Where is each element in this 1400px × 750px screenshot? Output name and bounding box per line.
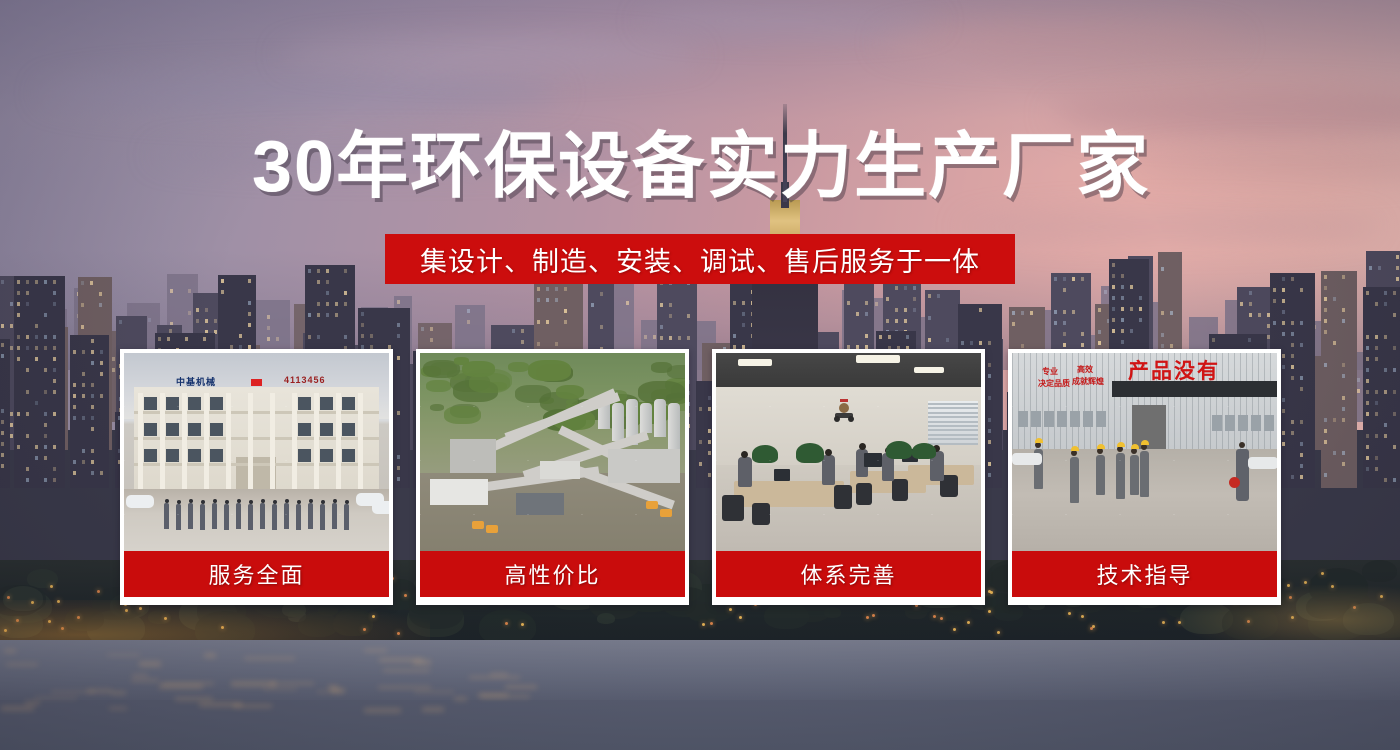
feature-card-row: 中基机械 4113456 服务全面 高性价比 (120, 349, 1280, 605)
office-worker (822, 455, 835, 485)
hard-hat-icon (1035, 438, 1043, 443)
building-window (144, 449, 157, 462)
hard-hat-icon (1071, 446, 1079, 451)
card-photo-factory-yard: 产品没有 专业 决定品质 高效 成就辉煌 (1012, 353, 1277, 551)
factory-window (1018, 411, 1028, 427)
supervisor (1236, 449, 1249, 501)
person-head (333, 499, 337, 503)
factory-worker (1130, 455, 1139, 495)
wall-rib (1060, 353, 1061, 449)
field-patch (515, 385, 551, 403)
building-column (292, 393, 297, 489)
building-window (188, 449, 201, 462)
staff-person (272, 504, 277, 530)
card-caption-label: 高性价比 (504, 558, 600, 590)
person-head (859, 443, 866, 450)
plant-building (516, 493, 564, 515)
plant-building (430, 479, 488, 505)
building-column (248, 393, 253, 489)
person-head (309, 499, 313, 503)
field-patch (667, 365, 685, 380)
building-window (342, 397, 355, 410)
wall-rib (1072, 353, 1073, 449)
building-window (320, 449, 333, 462)
wall-rib (1270, 353, 1271, 449)
person-head (213, 499, 217, 503)
computer-monitor (864, 453, 882, 467)
wall-slogan-text: 专业 (1042, 367, 1058, 376)
building-window (188, 423, 201, 436)
building-column (226, 393, 231, 489)
building-window (298, 449, 311, 462)
promo-banner: 30年环保设备实力生产厂家 集设计、制造、安装、调试、售后服务于一体 中基机械 … (0, 0, 1400, 750)
building-floor-line (134, 463, 379, 466)
staff-person (188, 503, 193, 529)
building-window (166, 397, 179, 410)
building-column (270, 393, 275, 489)
wall-rib (1252, 353, 1253, 449)
window-blind-slat (928, 438, 978, 440)
office-plant (752, 445, 778, 463)
factory-window (1096, 411, 1106, 427)
factory-window (1264, 415, 1274, 431)
factory-window (1238, 415, 1248, 431)
card-caption: 高性价比 (420, 551, 685, 597)
building-window (188, 397, 201, 410)
wall-rib (1096, 353, 1097, 449)
silo (612, 403, 624, 441)
wall-rib (1234, 353, 1235, 449)
card-caption-label: 体系完善 (800, 558, 896, 590)
building-column (358, 393, 363, 489)
silo (654, 399, 666, 437)
subtitle-text: 集设计、制造、安装、调试、售后服务于一体 (420, 240, 980, 279)
staff-person (224, 504, 229, 530)
excavator (486, 525, 498, 533)
building-column (336, 393, 341, 489)
person-head (249, 500, 253, 504)
card-caption: 服务全面 (124, 551, 389, 597)
wall-rib (1228, 353, 1229, 449)
plant-building (608, 449, 680, 483)
staff-person (176, 504, 181, 530)
building-window (144, 423, 157, 436)
wall-slogan-text: 成就辉煌 (1072, 377, 1104, 386)
person-head (297, 500, 301, 504)
person-head (237, 499, 241, 503)
silo (640, 403, 652, 433)
building-column (314, 393, 319, 489)
staff-person (236, 503, 241, 529)
staff-person (212, 503, 217, 529)
building-column (160, 393, 165, 489)
wall-rib (1108, 353, 1109, 449)
card-photo-headquarters: 中基机械 4113456 (124, 353, 389, 551)
hard-hat-icon (1117, 442, 1125, 447)
computer-monitor (774, 469, 790, 481)
office-chair (892, 479, 908, 501)
factory-worker (1140, 451, 1149, 497)
office-plant (912, 443, 936, 459)
card-photo-plant-aerial (420, 353, 685, 551)
card-caption-label: 技术指导 (1096, 558, 1192, 590)
person-head (825, 449, 832, 456)
feature-card[interactable]: 高性价比 (416, 349, 689, 605)
wall-rib (1066, 353, 1067, 449)
ceiling-light (856, 355, 900, 363)
building-floor-line (134, 411, 379, 414)
person-head (177, 500, 181, 504)
office-plant (796, 443, 824, 463)
wall-rib (1264, 353, 1265, 449)
factory-window (1057, 411, 1067, 427)
feature-card[interactable]: 体系完善 (712, 349, 985, 605)
factory-worker (1116, 453, 1125, 499)
wall-rib (1114, 353, 1115, 449)
person-head (165, 499, 169, 503)
window-blind-slat (928, 407, 978, 409)
staff-person (320, 504, 325, 530)
field-patch (444, 406, 481, 424)
parked-car (1012, 453, 1042, 465)
person-head (285, 499, 289, 503)
ceiling-light (914, 367, 944, 373)
excavator (646, 501, 658, 509)
building-column (204, 393, 209, 489)
building-column (182, 393, 187, 489)
building-window (210, 449, 223, 462)
building-window (144, 397, 157, 410)
wall-rib (1102, 353, 1103, 449)
wall-decal-svg (828, 397, 860, 423)
staff-person (296, 504, 301, 530)
office-chair (752, 503, 770, 525)
factory-worker (1096, 455, 1105, 495)
window-blind-slat (928, 421, 978, 423)
building-window (298, 397, 311, 410)
building-floor-line (134, 437, 379, 440)
building-window (320, 397, 333, 410)
building-window (342, 423, 355, 436)
office-chair (856, 483, 872, 505)
window-blind-slat (928, 412, 978, 414)
wall-decal-icon (828, 397, 860, 423)
wall-rib (1018, 353, 1019, 449)
staff-person (164, 503, 169, 529)
factory-window (1212, 415, 1222, 431)
wall-rib (1222, 353, 1223, 449)
building-window (210, 397, 223, 410)
wall-rib (1120, 353, 1121, 449)
staff-person (260, 503, 265, 529)
factory-window (1225, 415, 1235, 431)
excavator (472, 521, 484, 529)
window-blind-slat (928, 403, 978, 405)
wall-slogan-text: 高效 (1077, 365, 1093, 374)
field-patch (528, 360, 571, 381)
wall-rib (1126, 353, 1127, 449)
factory-window (1044, 411, 1054, 427)
parked-car (372, 501, 389, 514)
parked-car (126, 495, 154, 508)
person-head (321, 500, 325, 504)
staff-person (344, 504, 349, 530)
hard-hat-icon (1131, 444, 1139, 449)
staff-person (248, 504, 253, 530)
wall-rib (1036, 353, 1037, 449)
staff-person (284, 503, 289, 529)
excavator (660, 509, 672, 517)
person-head (741, 451, 748, 458)
wall-rib (1030, 353, 1031, 449)
card-caption: 技术指导 (1012, 551, 1277, 597)
wall-rib (1240, 353, 1241, 449)
card-caption: 体系完善 (716, 551, 981, 597)
office-plant (886, 441, 912, 459)
hard-hat-icon (1141, 440, 1149, 445)
wall-rib (1012, 353, 1013, 449)
factory-window (1251, 415, 1261, 431)
window-blind-slat (928, 425, 978, 427)
hard-hat-icon (1097, 444, 1105, 449)
wall-slogan-text: 决定品质 (1038, 379, 1070, 388)
building-window (298, 423, 311, 436)
field-patch (430, 404, 445, 411)
building-window (166, 423, 179, 436)
feature-card[interactable]: 产品没有 专业 决定品质 高效 成就辉煌 技术指导 (1008, 349, 1281, 605)
staff-person (308, 503, 313, 529)
window-blind-slat (928, 416, 978, 418)
office-worker (738, 457, 752, 487)
card-photo-office-interior (716, 353, 981, 551)
field-patch (556, 385, 585, 399)
wall-sign-text: 产品没有 (1128, 355, 1220, 385)
ceiling-light (738, 359, 772, 366)
person-head (345, 500, 349, 504)
building-phone-text: 4113456 (284, 375, 326, 385)
building-window (342, 449, 355, 462)
factory-door (1132, 405, 1166, 449)
person-head (225, 500, 229, 504)
factory-worker (1070, 457, 1079, 503)
plant-building (540, 461, 580, 479)
staff-person (332, 503, 337, 529)
plant-building (450, 439, 496, 473)
building-window (210, 423, 223, 436)
building-column (138, 393, 143, 489)
building-window (166, 449, 179, 462)
office-chair (834, 485, 852, 509)
card-caption-label: 服务全面 (208, 558, 304, 590)
factory-window (1070, 411, 1080, 427)
wall-rib (1246, 353, 1247, 449)
building-sign-text: 中基机械 (176, 375, 216, 388)
factory-window (1083, 411, 1093, 427)
feature-card[interactable]: 中基机械 4113456 服务全面 (120, 349, 393, 605)
building-window (320, 423, 333, 436)
window-blind-slat (928, 429, 978, 431)
silo (668, 403, 680, 449)
subtitle-banner: 集设计、制造、安装、调试、售后服务于一体 (385, 234, 1015, 284)
field-patch (469, 373, 509, 393)
person-head (189, 499, 193, 503)
page-title: 30年环保设备实力生产厂家 (252, 131, 1150, 203)
person-head (273, 500, 277, 504)
person-head (1239, 442, 1245, 448)
person-head (261, 499, 265, 503)
parked-car (1248, 457, 1277, 469)
person-head (201, 500, 205, 504)
field-patch (508, 362, 528, 372)
wall-rib (1258, 353, 1259, 449)
staff-person (200, 504, 205, 530)
flag-icon (251, 379, 262, 386)
window-blind-slat (928, 434, 978, 436)
field-patch (426, 380, 451, 392)
red-helmet-icon (1229, 477, 1240, 488)
wall-rib (1024, 353, 1025, 449)
factory-window (1031, 411, 1041, 427)
office-chair (722, 495, 744, 521)
